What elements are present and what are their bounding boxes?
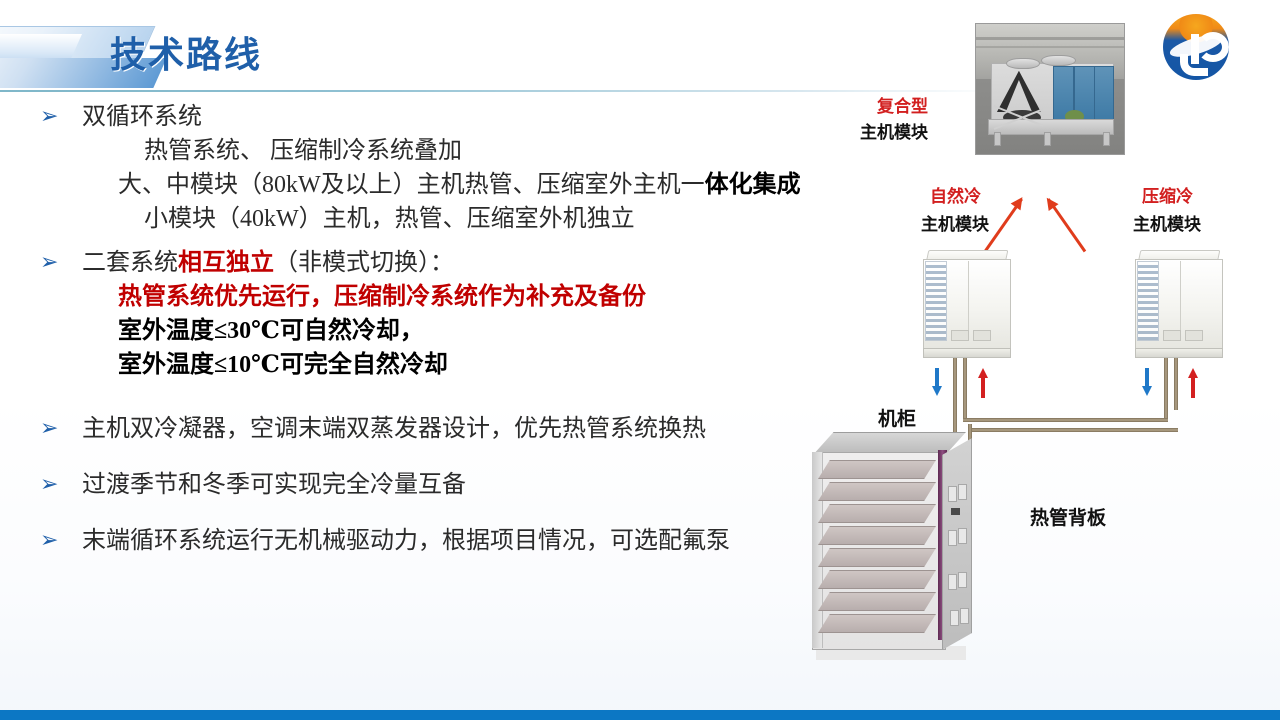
slide: 技术路线 ➢ 双循环系统 热管系统、 压缩制冷系统叠加 大、中模块（80kW及以… — [0, 0, 1280, 720]
red-diagonal-arrow-left-icon — [984, 198, 1023, 252]
page-title: 技术路线 — [110, 26, 262, 78]
content-body: ➢ 双循环系统 热管系统、 压缩制冷系统叠加 大、中模块（80kW及以上）主机热… — [40, 100, 870, 558]
bullet-1-line-3: 大、中模块（80kW及以上）主机热管、压缩室外主机一体化集成 — [82, 168, 801, 202]
label-composite-type: 复合型 — [877, 92, 928, 117]
red-diagonal-arrow-right-icon — [1047, 198, 1086, 252]
pipe-left-return — [963, 358, 967, 420]
bullet-3-line-1: 主机双冷凝器，空调末端双蒸发器设计，优先热管系统换热 — [82, 412, 706, 446]
outdoor-unit-right — [1135, 250, 1221, 358]
spacer-4 — [40, 502, 870, 524]
bullet-marker-icon: ➢ — [40, 524, 82, 558]
label-compressor-type: 压缩冷 — [1142, 182, 1193, 207]
bullet-2-line-1-emphasis: 相互独立 — [178, 250, 274, 276]
bullet-1-line-4: 小模块（40kW）主机，热管、压缩室外机独立 — [82, 202, 801, 236]
bullet-2-line-1-post: （非模式切换）： — [274, 250, 454, 276]
pipe-right-return — [1174, 358, 1178, 410]
bullet-marker-icon: ➢ — [40, 412, 82, 446]
bullet-block-1: ➢ 双循环系统 热管系统、 压缩制冷系统叠加 大、中模块（80kW及以上）主机热… — [40, 100, 870, 236]
server-rack — [812, 424, 1017, 664]
label-free-cooling-module: 主机模块 — [921, 210, 989, 235]
bullet-block-2: ➢ 二套系统相互独立（非模式切换）： 热管系统优先运行，压缩制冷系统作为补充及备… — [40, 246, 870, 382]
bullet-2-line-1: 二套系统相互独立（非模式切换）： — [82, 246, 646, 280]
bullet-marker-icon: ➢ — [40, 468, 82, 502]
bullet-1-line-3-pre: 大、中模块（80kW及以上）主机热管、压缩室外主机一 — [118, 172, 705, 198]
bullet-4-line-1: 过渡季节和冬季可实现完全冷量互备 — [82, 468, 466, 502]
pipe-right-supply — [1164, 358, 1168, 420]
bullet-block-3: ➢ 主机双冷凝器，空调末端双蒸发器设计，优先热管系统换热 — [40, 412, 870, 446]
system-diagram: 复合型 主机模块 自然冷 主机模块 压缩冷 主机模块 — [790, 0, 1280, 720]
bullet-block-4: ➢ 过渡季节和冬季可实现完全冷量互备 — [40, 468, 870, 502]
bullet-2-line-1-pre: 二套系统 — [82, 250, 178, 276]
spacer-3 — [40, 446, 870, 468]
composite-chiller-photo — [975, 23, 1125, 155]
bullet-marker-icon: ➢ — [40, 246, 82, 280]
outdoor-unit-left — [923, 250, 1009, 358]
spacer-2 — [40, 382, 870, 412]
bullet-2-line-4: 室外温度≤10℃可完全自然冷却 — [82, 348, 646, 382]
pipe-horizontal-upper — [963, 418, 1168, 422]
company-logo — [1163, 14, 1229, 80]
label-composite-module: 主机模块 — [860, 118, 928, 143]
spacer-1 — [40, 236, 870, 246]
bullet-2-line-2: 热管系统优先运行，压缩制冷系统作为补充及备份 — [82, 280, 646, 314]
bullet-5-line-1: 末端循环系统运行无机械驱动力，根据项目情况，可选配氟泵 — [82, 524, 730, 558]
bullet-block-5: ➢ 末端循环系统运行无机械驱动力，根据项目情况，可选配氟泵 — [40, 524, 870, 558]
bullet-2-line-3: 室外温度≤30℃可自然冷却， — [82, 314, 646, 348]
label-compressor-module: 主机模块 — [1133, 210, 1201, 235]
bullet-marker-icon: ➢ — [40, 100, 82, 134]
bullet-1-line-1: 双循环系统 — [82, 100, 801, 134]
bullet-1-line-2: 热管系统、 压缩制冷系统叠加 — [82, 134, 801, 168]
footer-bar — [0, 710, 1280, 720]
label-heatpipe-backplane: 热管背板 — [1030, 503, 1106, 530]
label-free-cooling-type: 自然冷 — [930, 182, 981, 207]
bullet-1-line-3-emphasis: 体化集成 — [705, 172, 801, 198]
